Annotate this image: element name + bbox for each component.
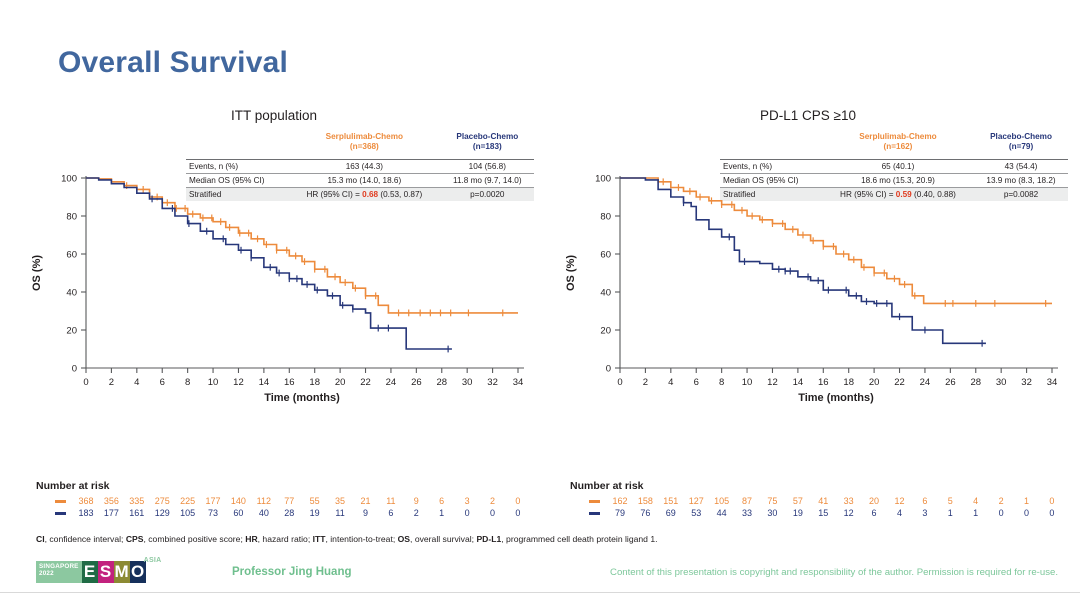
logo-city-year: SINGAPORE 2022 xyxy=(36,561,82,583)
risk-value: 0 xyxy=(480,507,505,519)
risk-value: 53 xyxy=(684,507,709,519)
risk-row: 368356335275225177140112775535211196320 xyxy=(47,495,530,507)
risk-value: 0 xyxy=(1039,507,1065,519)
legend-dash-icon xyxy=(589,512,600,515)
risk-value: 0 xyxy=(505,495,531,507)
risk-value: 44 xyxy=(709,507,734,519)
svg-text:OS (%): OS (%) xyxy=(31,255,43,291)
logo-letter-s: S xyxy=(98,561,114,583)
svg-text:6: 6 xyxy=(160,377,165,388)
risk-table: 1621581511271058775574133201265421079766… xyxy=(581,495,1064,519)
risk-value: 33 xyxy=(836,495,861,507)
risk-value: 177 xyxy=(99,507,124,519)
legend-dash-icon xyxy=(589,500,600,503)
logo-letter-o: O xyxy=(130,561,146,583)
risk-value: 75 xyxy=(760,495,785,507)
svg-text:0: 0 xyxy=(617,377,622,388)
svg-text:20: 20 xyxy=(869,377,880,388)
logo-year: 2022 xyxy=(39,571,79,578)
svg-text:0: 0 xyxy=(72,363,77,374)
svg-text:14: 14 xyxy=(259,377,270,388)
risk-legend-dash xyxy=(47,495,73,507)
abbreviations-footnote: CI, confidence interval; CPS, combined p… xyxy=(36,534,1046,545)
svg-text:12: 12 xyxy=(233,377,244,388)
svg-text:18: 18 xyxy=(843,377,854,388)
svg-text:28: 28 xyxy=(436,377,447,388)
risk-value: 225 xyxy=(175,495,200,507)
panel-itt: ITT population Serplulimab-Chemo (n=368)… xyxy=(18,108,530,468)
svg-text:22: 22 xyxy=(360,377,371,388)
risk-value: 79 xyxy=(607,507,632,519)
risk-value: 105 xyxy=(175,507,200,519)
risk-title: Number at risk xyxy=(36,480,530,492)
risk-row: 7976695344333019151264311000 xyxy=(581,507,1064,519)
svg-text:24: 24 xyxy=(386,377,397,388)
km-plot-svg: 0204060801000246810121416182022242628303… xyxy=(18,172,530,407)
svg-text:8: 8 xyxy=(185,377,190,388)
panel-title-cps10: PD-L1 CPS ≥10 xyxy=(552,108,1064,123)
risk-value: 0 xyxy=(505,507,531,519)
risk-value: 9 xyxy=(404,495,429,507)
risk-value: 4 xyxy=(887,507,912,519)
risk-value: 183 xyxy=(73,507,98,519)
risk-value: 140 xyxy=(226,495,251,507)
footer-divider xyxy=(0,592,1080,593)
esmo-asia-logo: SINGAPORE 2022 E S M O ASIA xyxy=(36,561,146,583)
svg-text:34: 34 xyxy=(513,377,524,388)
svg-text:100: 100 xyxy=(595,173,611,184)
risk-value: 60 xyxy=(226,507,251,519)
arm-1-n: (n=368) xyxy=(350,142,379,151)
logo-letter-e: E xyxy=(82,561,98,583)
risk-value: 6 xyxy=(912,495,937,507)
logo-letter-m: M xyxy=(114,561,130,583)
page-title: Overall Survival xyxy=(58,46,288,80)
risk-value: 73 xyxy=(200,507,225,519)
km-chart-cps10: 0204060801000246810121416182022242628303… xyxy=(552,172,1064,407)
svg-text:30: 30 xyxy=(996,377,1007,388)
risk-value: 5 xyxy=(938,495,963,507)
svg-text:4: 4 xyxy=(134,377,139,388)
svg-text:14: 14 xyxy=(793,377,804,388)
svg-text:80: 80 xyxy=(600,211,611,222)
risk-value: 6 xyxy=(378,507,403,519)
svg-text:60: 60 xyxy=(66,249,77,260)
svg-text:26: 26 xyxy=(945,377,956,388)
svg-text:10: 10 xyxy=(742,377,753,388)
risk-value: 11 xyxy=(327,507,352,519)
risk-value: 112 xyxy=(251,495,276,507)
svg-text:0: 0 xyxy=(83,377,88,388)
svg-text:Time (months): Time (months) xyxy=(798,392,874,404)
risk-value: 40 xyxy=(251,507,276,519)
svg-text:34: 34 xyxy=(1047,377,1058,388)
risk-value: 335 xyxy=(124,495,149,507)
risk-value: 127 xyxy=(684,495,709,507)
svg-text:22: 22 xyxy=(894,377,905,388)
risk-value: 20 xyxy=(861,495,886,507)
arm-2-name: Placebo-Chemo xyxy=(990,132,1052,141)
stats-header-arm-2: Placebo-Chemo (n=183) xyxy=(441,130,534,154)
svg-text:60: 60 xyxy=(600,249,611,260)
risk-value: 41 xyxy=(811,495,836,507)
svg-text:0: 0 xyxy=(606,363,611,374)
arm-1-n: (n=162) xyxy=(884,142,913,151)
arm-1-name: Serplulimab-Chemo xyxy=(859,132,936,141)
slide-root: Overall Survival ITT population Serpluli… xyxy=(0,0,1080,608)
risk-value: 4 xyxy=(963,495,988,507)
svg-text:2: 2 xyxy=(643,377,648,388)
risk-value: 161 xyxy=(124,507,149,519)
svg-text:18: 18 xyxy=(309,377,320,388)
km-chart-itt: 0204060801000246810121416182022242628303… xyxy=(18,172,530,407)
risk-value: 55 xyxy=(302,495,327,507)
svg-text:80: 80 xyxy=(66,211,77,222)
svg-text:20: 20 xyxy=(335,377,346,388)
logo-esmo-letters: E S M O ASIA xyxy=(82,561,146,583)
risk-value: 1 xyxy=(963,507,988,519)
risk-value: 30 xyxy=(760,507,785,519)
svg-text:Time (months): Time (months) xyxy=(264,392,340,404)
svg-text:28: 28 xyxy=(970,377,981,388)
arm-2-n: (n=79) xyxy=(1009,142,1033,151)
stats-header-arm-1: Serplulimab-Chemo (n=162) xyxy=(822,130,974,154)
svg-text:8: 8 xyxy=(719,377,724,388)
svg-text:32: 32 xyxy=(487,377,498,388)
risk-value: 177 xyxy=(200,495,225,507)
svg-text:40: 40 xyxy=(66,287,77,298)
svg-text:40: 40 xyxy=(600,287,611,298)
km-plot-svg: 0204060801000246810121416182022242628303… xyxy=(552,172,1064,407)
legend-dash-icon xyxy=(55,512,66,515)
presenter-name: Professor Jing Huang xyxy=(232,566,352,578)
risk-title: Number at risk xyxy=(570,480,1064,492)
risk-value: 2 xyxy=(988,495,1013,507)
risk-value: 15 xyxy=(811,507,836,519)
risk-value: 162 xyxy=(607,495,632,507)
stats-header-arm-1: Serplulimab-Chemo (n=368) xyxy=(288,130,441,154)
risk-value: 77 xyxy=(277,495,302,507)
svg-text:12: 12 xyxy=(767,377,778,388)
panel-cps10: PD-L1 CPS ≥10 Serplulimab-Chemo (n=162) … xyxy=(552,108,1064,468)
risk-row: 1831771611291057360402819119621000 xyxy=(47,507,530,519)
risk-value: 57 xyxy=(785,495,810,507)
risk-legend-dash xyxy=(581,495,607,507)
svg-text:24: 24 xyxy=(920,377,931,388)
svg-text:4: 4 xyxy=(668,377,673,388)
svg-text:20: 20 xyxy=(600,325,611,336)
arm-1-name: Serplulimab-Chemo xyxy=(326,132,403,141)
risk-value: 1 xyxy=(1014,495,1039,507)
stats-header-arm-2: Placebo-Chemo (n=79) xyxy=(974,130,1068,154)
arm-2-n: (n=183) xyxy=(473,142,502,151)
risk-row: 16215815112710587755741332012654210 xyxy=(581,495,1064,507)
risk-value: 356 xyxy=(99,495,124,507)
risk-value: 151 xyxy=(658,495,683,507)
number-at-risk-itt: Number at risk 3683563352752251771401127… xyxy=(18,480,530,519)
svg-text:26: 26 xyxy=(411,377,422,388)
risk-value: 0 xyxy=(1039,495,1065,507)
legend-dash-icon xyxy=(55,500,66,503)
risk-value: 19 xyxy=(302,507,327,519)
risk-value: 11 xyxy=(378,495,403,507)
svg-text:20: 20 xyxy=(66,325,77,336)
risk-value: 69 xyxy=(658,507,683,519)
risk-value: 87 xyxy=(734,495,759,507)
risk-value: 1 xyxy=(938,507,963,519)
risk-value: 129 xyxy=(150,507,175,519)
risk-value: 2 xyxy=(480,495,505,507)
risk-value: 1 xyxy=(429,507,454,519)
risk-value: 368 xyxy=(73,495,98,507)
risk-value: 21 xyxy=(353,495,378,507)
svg-text:OS (%): OS (%) xyxy=(565,255,577,291)
risk-value: 76 xyxy=(633,507,658,519)
svg-text:30: 30 xyxy=(462,377,473,388)
risk-value: 33 xyxy=(734,507,759,519)
risk-value: 12 xyxy=(887,495,912,507)
risk-legend-dash xyxy=(581,507,607,519)
number-at-risk-cps10: Number at risk 1621581511271058775574133… xyxy=(552,480,1064,519)
risk-value: 6 xyxy=(861,507,886,519)
risk-value: 0 xyxy=(1014,507,1039,519)
risk-value: 28 xyxy=(277,507,302,519)
risk-value: 19 xyxy=(785,507,810,519)
risk-value: 6 xyxy=(429,495,454,507)
risk-value: 158 xyxy=(633,495,658,507)
svg-text:10: 10 xyxy=(208,377,219,388)
copyright-notice: Content of this presentation is copyrigh… xyxy=(610,567,1058,578)
logo-asia-text: ASIA xyxy=(144,557,162,564)
risk-value: 0 xyxy=(988,507,1013,519)
svg-text:6: 6 xyxy=(694,377,699,388)
risk-value: 275 xyxy=(150,495,175,507)
risk-value: 35 xyxy=(327,495,352,507)
risk-legend-dash xyxy=(47,507,73,519)
risk-value: 2 xyxy=(404,507,429,519)
risk-value: 3 xyxy=(912,507,937,519)
svg-text:16: 16 xyxy=(284,377,295,388)
risk-value: 12 xyxy=(836,507,861,519)
risk-table: 3683563352752251771401127755352111963201… xyxy=(47,495,530,519)
risk-value: 3 xyxy=(454,495,479,507)
svg-text:100: 100 xyxy=(61,173,77,184)
arm-2-name: Placebo-Chemo xyxy=(456,132,518,141)
risk-value: 105 xyxy=(709,495,734,507)
svg-text:2: 2 xyxy=(109,377,114,388)
svg-text:32: 32 xyxy=(1021,377,1032,388)
risk-value: 0 xyxy=(454,507,479,519)
svg-text:16: 16 xyxy=(818,377,829,388)
panel-title-itt: ITT population xyxy=(18,108,530,123)
risk-value: 9 xyxy=(353,507,378,519)
